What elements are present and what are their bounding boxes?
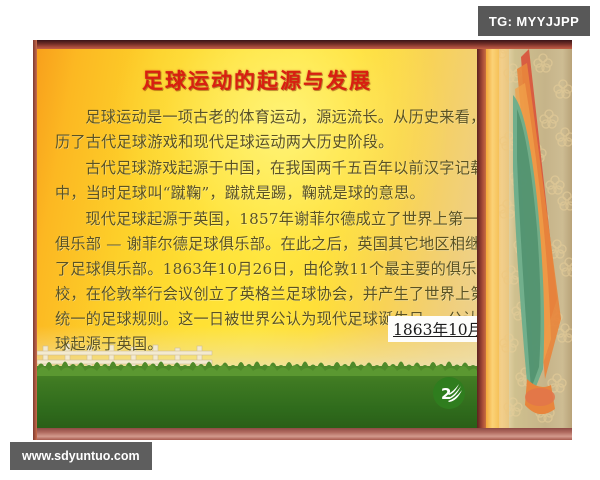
paragraph-2: 古代足球游戏起源于中国，在我国两千五百年以前汉字记载当中，当时足球叫“蹴鞠”，蹴… [55,156,477,206]
page-title: 足球运动的起源与发展 [37,65,477,95]
decorative-side-panel [477,49,572,428]
tree-feather-illustration [499,49,572,428]
telegram-watermark: TG: MYYJJPP [478,6,590,36]
paragraph-1: 足球运动是一项古老的体育运动，源远流长。从历史来看，它经历了古代足球游戏和现代足… [55,105,477,155]
panel-gold-strip [486,49,499,428]
panel-divider [477,49,486,428]
right-white-margin [572,0,600,480]
brand-logo: 2 [432,376,466,410]
presentation-slide: 足球运动的起源与发展 足球运动是一项古老的体育运动，源远流长。从历史来看，它经历… [33,40,572,440]
slide-frame-left [33,40,37,440]
site-watermark: www.sdyuntuo.com [10,442,152,470]
slide-frame-top [33,40,572,49]
slide-frame-bottom [33,428,572,440]
slide-content-pane: 足球运动的起源与发展 足球运动是一项古老的体育运动，源远流长。从历史来看，它经历… [37,49,477,428]
